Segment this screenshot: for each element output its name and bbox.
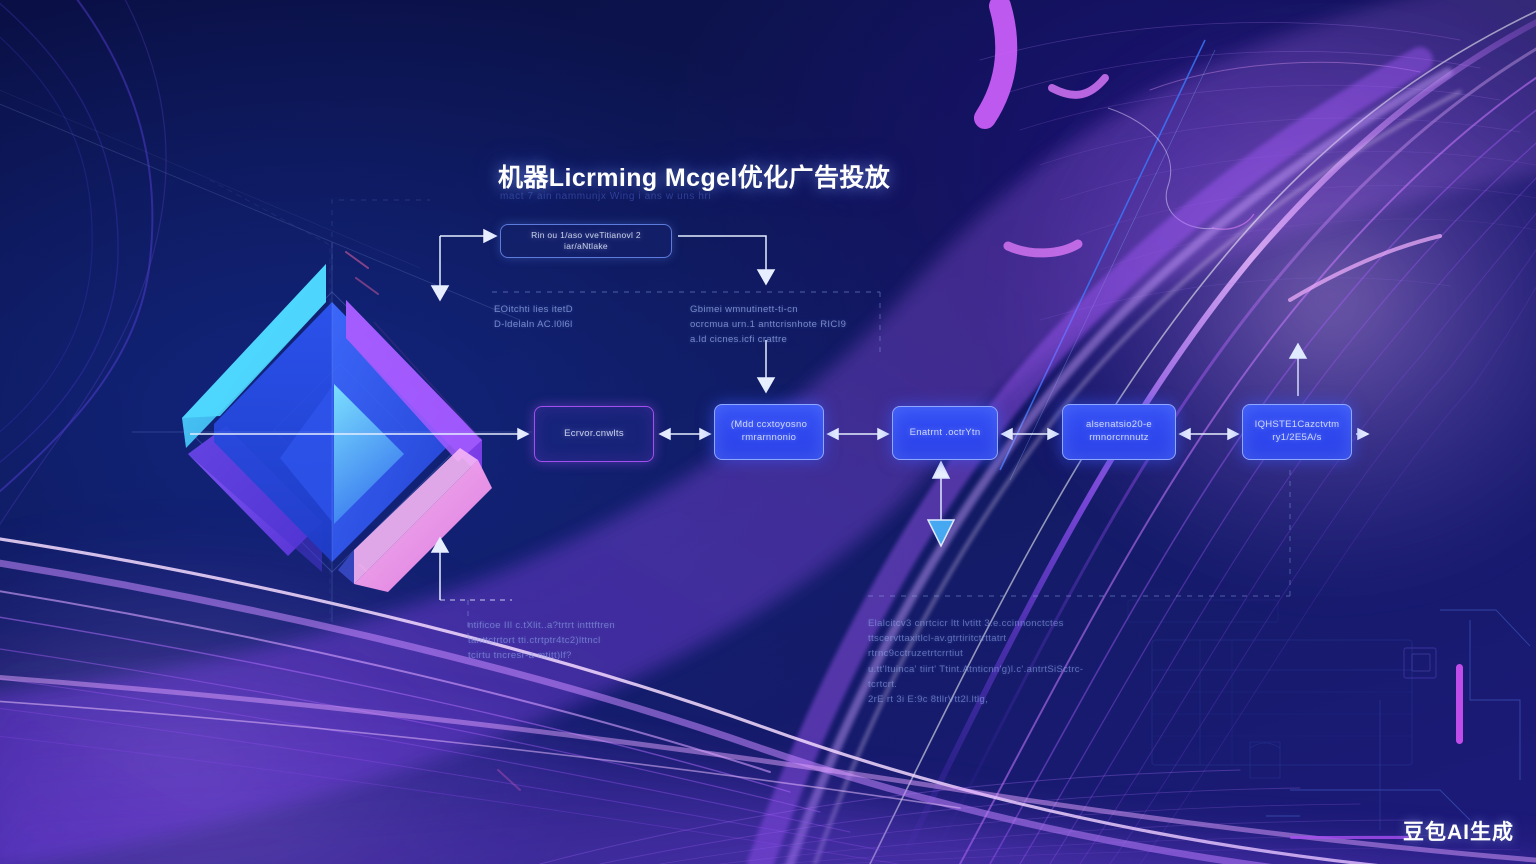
flow-node-2[interactable]: (Mdd ccxtoyosno rmrarnnonio: [714, 404, 824, 460]
flow-node-5[interactable]: IQHSTE1Cazctvtm ry1/2E5A/s: [1242, 404, 1352, 460]
flow-diagram: 机器Licrming Mcgel优化广告投放 mact 7 ain nammun…: [0, 0, 1536, 864]
flow-node-5-label: IQHSTE1Cazctvtm ry1/2E5A/s: [1255, 419, 1340, 445]
annotation-upper-left: EOitchti lies itetD D-ldelaln AC.l0l6l: [494, 302, 694, 332]
flow-node-input[interactable]: Rin ou 1/aso vveTitianovl 2 iar/aNtlake: [500, 224, 672, 258]
flow-node-4[interactable]: alsenatsio20-e rmnorcrnnutz: [1062, 404, 1176, 460]
watermark-label: 豆包AI生成: [1403, 816, 1514, 846]
annotation-lower-right: Elalcitcv3 cnrtcicr ltt lvtitt 3.e.ccinn…: [868, 616, 1098, 707]
annotation-upper-right: Gbimei wmnutinett-ti-cn ocrcmua urn.1 an…: [690, 302, 910, 348]
page-title: 机器Licrming Mcgel优化广告投放: [498, 158, 890, 194]
annotation-lower-left: ntificoe IIl c.tXlit..a?trtrt intttftren…: [468, 618, 668, 664]
canvas-root: 机器Licrming Mcgel优化广告投放 mact 7 ain nammun…: [0, 0, 1536, 864]
flow-node-1-label: Ecrvor.cnwlts: [564, 428, 624, 441]
flow-node-1[interactable]: Ecrvor.cnwlts: [534, 406, 654, 462]
flow-node-3[interactable]: Enatrnt .octrYtn: [892, 406, 998, 460]
flow-node-input-label: Rin ou 1/aso vveTitianovl 2 iar/aNtlake: [509, 230, 663, 253]
flow-node-3-label: Enatrnt .octrYtn: [910, 427, 981, 440]
flow-node-2-label: (Mdd ccxtoyosno rmrarnnonio: [731, 419, 807, 445]
flow-node-4-label: alsenatsio20-e rmnorcrnnutz: [1086, 419, 1152, 445]
page-subtitle: mact 7 ain nammunjx Wing i ans w uns hri: [500, 191, 711, 202]
